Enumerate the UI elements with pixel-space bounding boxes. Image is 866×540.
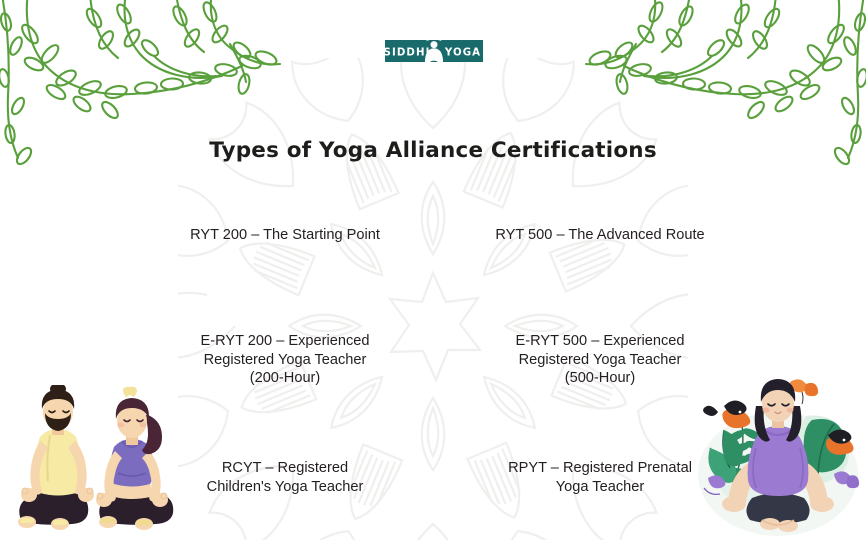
logo-word-yoga: YOGA xyxy=(444,48,481,59)
man-figure xyxy=(18,385,94,530)
siddhi-yoga-logo[interactable]: SIDDHI YOGA xyxy=(385,31,483,75)
infographic-canvas: SIDDHI YOGA Types of Yoga Alliance Certi… xyxy=(0,0,866,540)
logo-word-siddhi: SIDDHI xyxy=(385,48,430,59)
certification-item-rpyt: RPYT – Registered Prenatal Yoga Teacher xyxy=(410,459,790,496)
page-title: Types of Yoga Alliance Certifications xyxy=(0,138,866,163)
pregnant-woman-figure xyxy=(722,379,834,532)
certification-item-ryt500: RYT 500 – The Advanced Route xyxy=(410,226,790,245)
butterfly-top xyxy=(790,379,818,404)
leaf-cluster-right xyxy=(804,419,847,474)
certification-item-eryt500: E-RYT 500 – Experienced Registered Yoga … xyxy=(410,332,790,388)
bird-left xyxy=(703,400,750,428)
bird-right xyxy=(826,429,854,454)
butterfly-right xyxy=(834,471,859,488)
